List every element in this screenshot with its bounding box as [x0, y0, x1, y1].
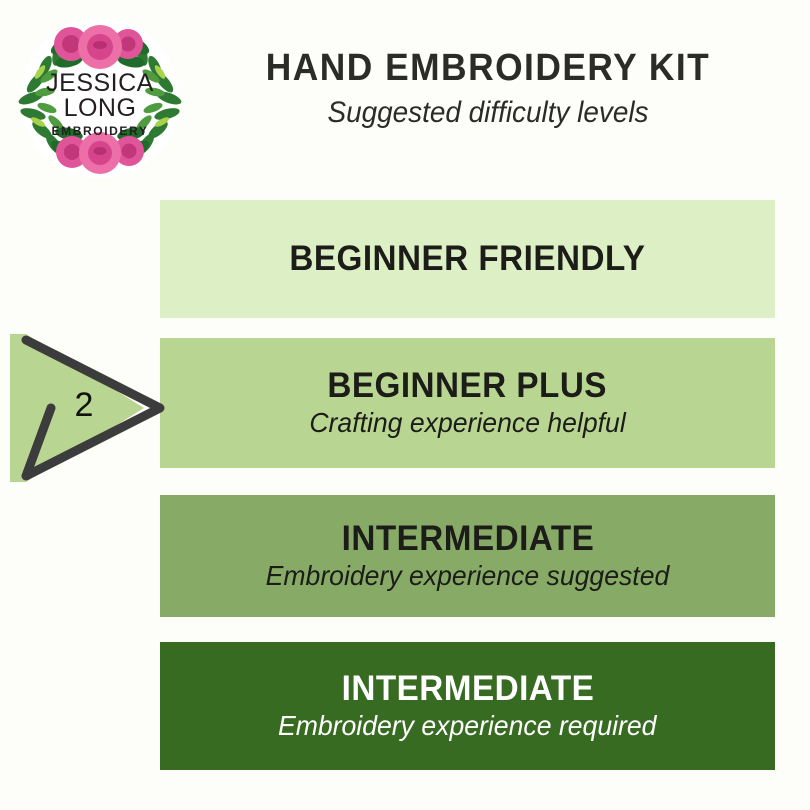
header: HAND EMBROIDERY KIT Suggested difficulty…	[186, 48, 790, 129]
difficulty-level-list: BEGINNER FRIENDLY BEGINNER PLUS Crafting…	[160, 200, 775, 770]
level-title: BEGINNER FRIENDLY	[289, 240, 645, 278]
selected-level-arrow-marker: 2	[4, 326, 174, 491]
level-subtitle: Crafting experience helpful	[309, 407, 625, 438]
page-title: HAND EMBROIDERY KIT	[207, 48, 769, 88]
brand-logo: JESSICA LONG EMBROIDERY	[14, 12, 186, 184]
level-title: INTERMEDIATE	[341, 520, 594, 558]
arrow-step-number: 2	[64, 388, 104, 422]
page-subtitle: Suggested difficulty levels	[207, 96, 769, 129]
level-subtitle: Embroidery experience suggested	[266, 560, 670, 591]
difficulty-level-infographic: JESSICA LONG EMBROIDERY HAND EMBROIDERY …	[0, 0, 810, 810]
level-row-beginner-plus[interactable]: BEGINNER PLUS Crafting experience helpfu…	[160, 338, 775, 468]
logo-line-jessica: JESSICA	[46, 69, 154, 97]
level-title: INTERMEDIATE	[341, 670, 594, 708]
level-row-beginner-friendly[interactable]: BEGINNER FRIENDLY	[160, 200, 775, 318]
logo-line-long: LONG	[64, 94, 137, 122]
logo-line-embroidery: EMBROIDERY	[52, 124, 149, 138]
level-subtitle: Embroidery experience required	[278, 710, 657, 741]
level-title: BEGINNER PLUS	[328, 367, 608, 405]
level-row-intermediate-required[interactable]: INTERMEDIATE Embroidery experience requi…	[160, 642, 775, 770]
level-row-intermediate-suggested[interactable]: INTERMEDIATE Embroidery experience sugge…	[160, 495, 775, 617]
